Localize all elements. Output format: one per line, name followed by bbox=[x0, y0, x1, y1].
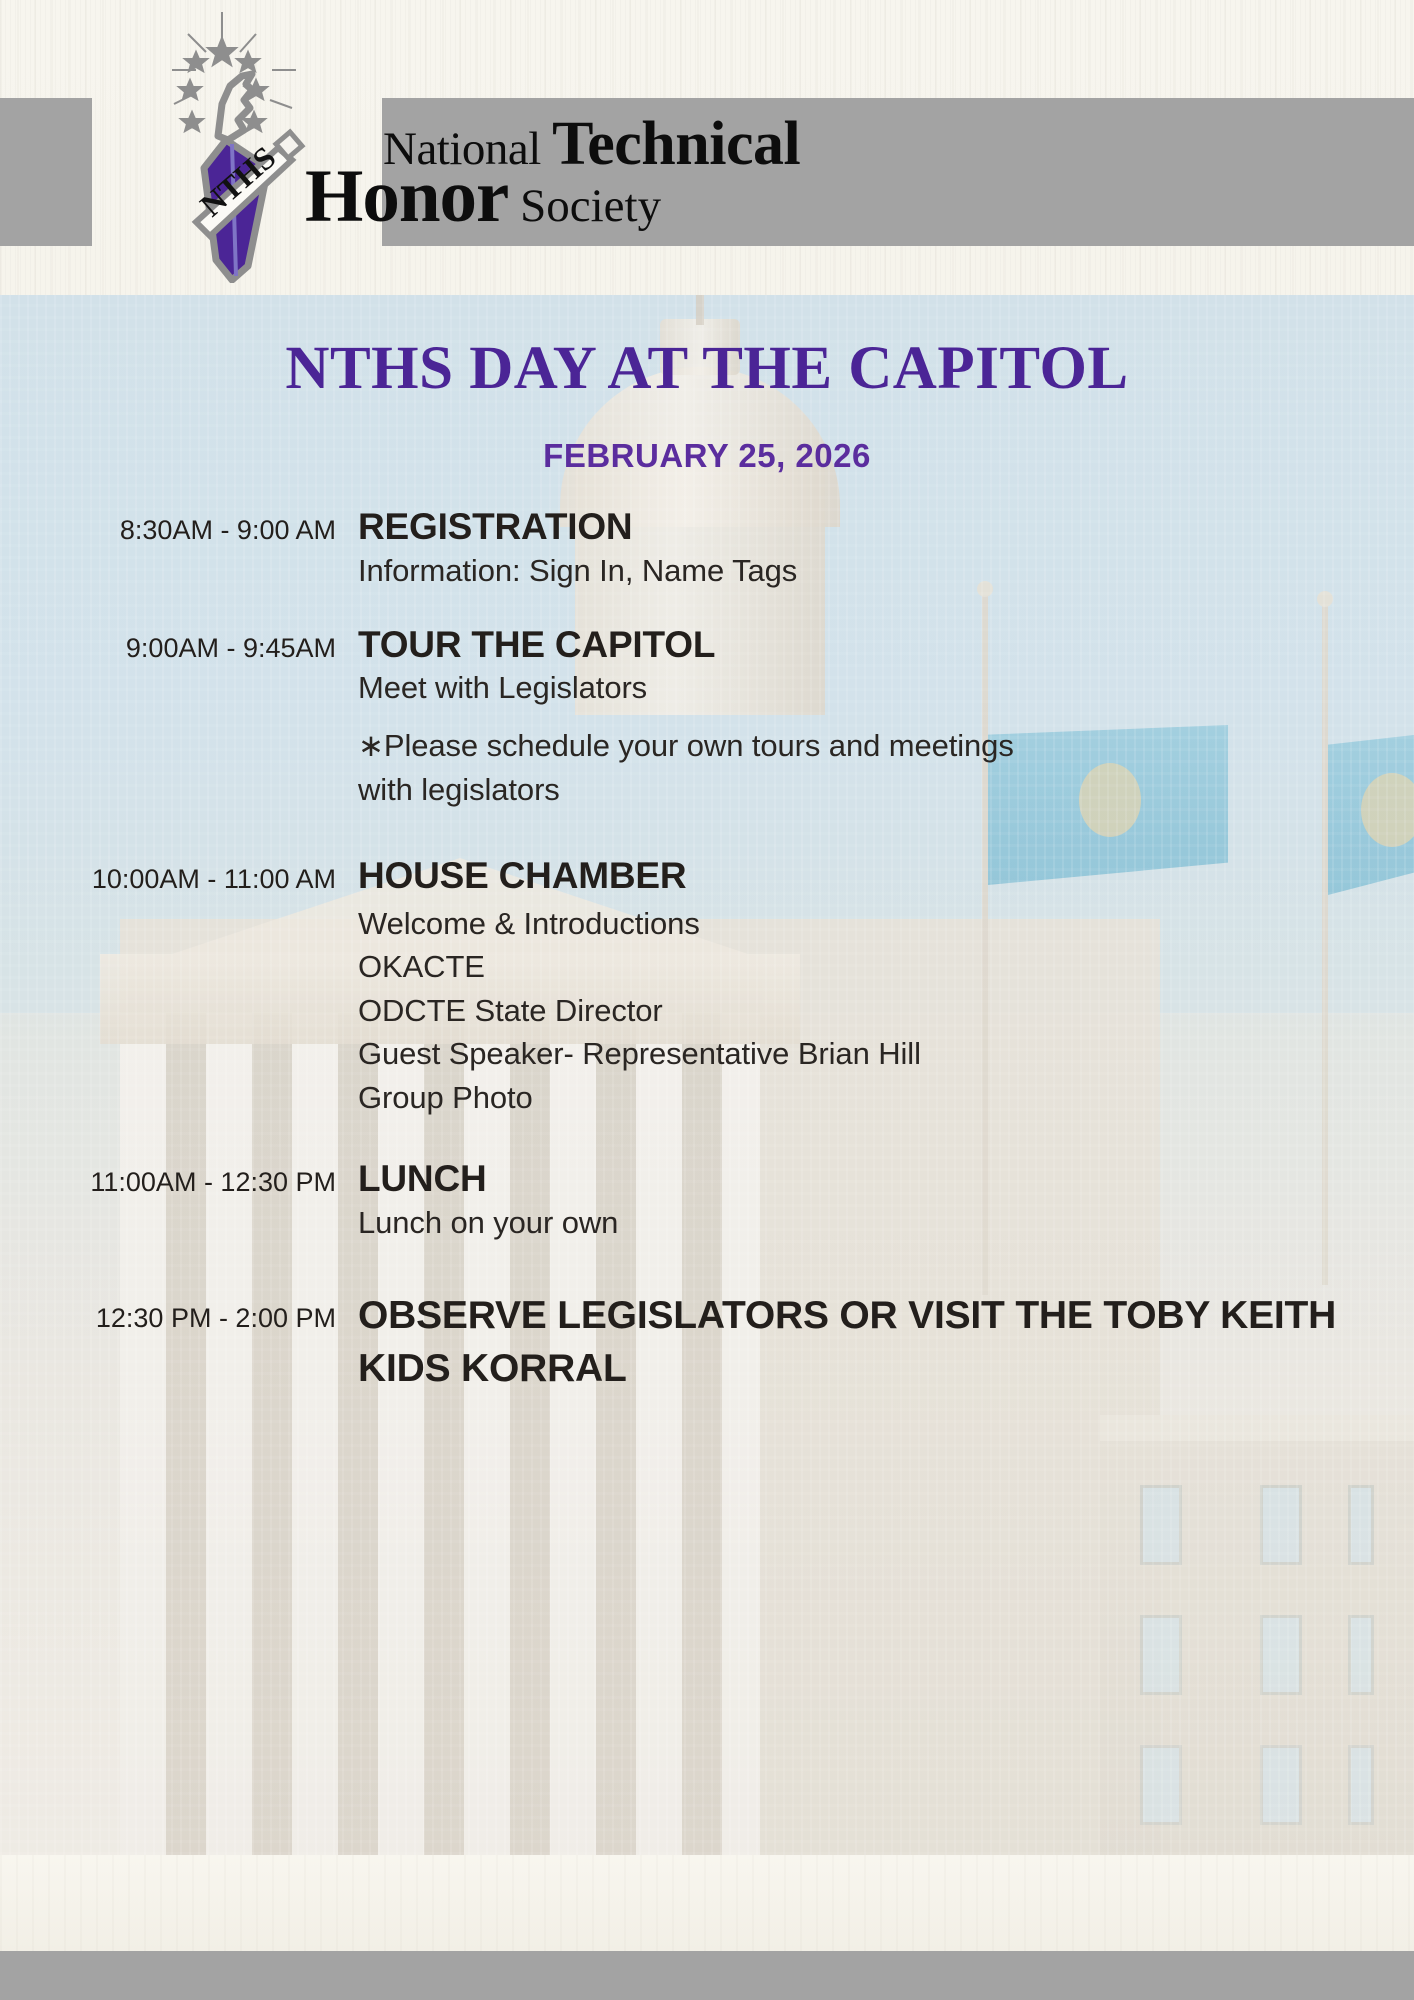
schedule-time: 10:00AM - 11:00 AM bbox=[0, 854, 350, 893]
schedule-list: 8:30AM - 9:00 AM REGISTRATION Informatio… bbox=[0, 505, 1414, 1422]
schedule-detail: REGISTRATION Information: Sign In, Name … bbox=[350, 505, 1414, 593]
footer-gray-band bbox=[0, 1951, 1414, 2000]
poster-page: NTHS National Technical Honor Society bbox=[0, 0, 1414, 2000]
schedule-time: 9:00AM - 9:45AM bbox=[0, 623, 350, 662]
poster-header: NTHS National Technical Honor Society bbox=[0, 0, 1414, 295]
schedule-line: Lunch on your own bbox=[358, 1201, 1414, 1245]
schedule-detail: HOUSE CHAMBER Welcome & Introductions OK… bbox=[350, 854, 1414, 1119]
wordmark-line-2: Honor Society bbox=[305, 154, 661, 240]
schedule-line: Guest Speaker- Representative Brian Hill bbox=[358, 1032, 1414, 1075]
schedule-title: OBSERVE LEGISLATORS OR VISIT THE TOBY KE… bbox=[358, 1289, 1368, 1397]
schedule-detail: LUNCH Lunch on your own bbox=[350, 1157, 1414, 1245]
schedule-time: 12:30 PM - 2:00 PM bbox=[0, 1289, 350, 1332]
schedule-line: Information: Sign In, Name Tags bbox=[358, 549, 1414, 593]
schedule-detail: TOUR THE CAPITOL Meet with Legislators ∗… bbox=[350, 623, 1414, 813]
schedule-row: 12:30 PM - 2:00 PM OBSERVE LEGISLATORS O… bbox=[0, 1289, 1414, 1397]
schedule-line: ODCTE State Director bbox=[358, 989, 1414, 1032]
schedule-title: LUNCH bbox=[358, 1157, 1414, 1201]
schedule-title: HOUSE CHAMBER bbox=[358, 854, 1414, 898]
schedule-time: 8:30AM - 9:00 AM bbox=[0, 505, 350, 544]
schedule-time: 11:00AM - 12:30 PM bbox=[0, 1157, 350, 1196]
nths-wordmark: National Technical Honor Society bbox=[305, 112, 865, 232]
schedule-row: 9:00AM - 9:45AM TOUR THE CAPITOL Meet wi… bbox=[0, 623, 1414, 813]
schedule-title: TOUR THE CAPITOL bbox=[358, 623, 1414, 667]
schedule-line: Group Photo bbox=[358, 1076, 1414, 1119]
header-gray-band-left bbox=[0, 98, 92, 246]
event-date: FEBRUARY 25, 2026 bbox=[0, 437, 1414, 475]
schedule-line: Meet with Legislators bbox=[358, 666, 1414, 710]
schedule-line: OKACTE bbox=[358, 945, 1414, 988]
schedule-detail: OBSERVE LEGISLATORS OR VISIT THE TOBY KE… bbox=[350, 1289, 1414, 1397]
schedule-note: ∗Please schedule your own tours and meet… bbox=[358, 724, 1018, 812]
page-title: NTHS DAY AT THE CAPITOL bbox=[0, 334, 1414, 404]
schedule-row: 10:00AM - 11:00 AM HOUSE CHAMBER Welcome… bbox=[0, 854, 1414, 1119]
footer-paper-strip bbox=[0, 1855, 1414, 1951]
schedule-row: 8:30AM - 9:00 AM REGISTRATION Informatio… bbox=[0, 505, 1414, 593]
schedule-row: 11:00AM - 12:30 PM LUNCH Lunch on your o… bbox=[0, 1157, 1414, 1245]
nths-logo: NTHS bbox=[160, 8, 310, 283]
wordmark-honor: Honor bbox=[305, 155, 508, 238]
schedule-title: REGISTRATION bbox=[358, 505, 1414, 549]
wordmark-society: Society bbox=[520, 180, 661, 232]
schedule-line: Welcome & Introductions bbox=[358, 902, 1414, 945]
